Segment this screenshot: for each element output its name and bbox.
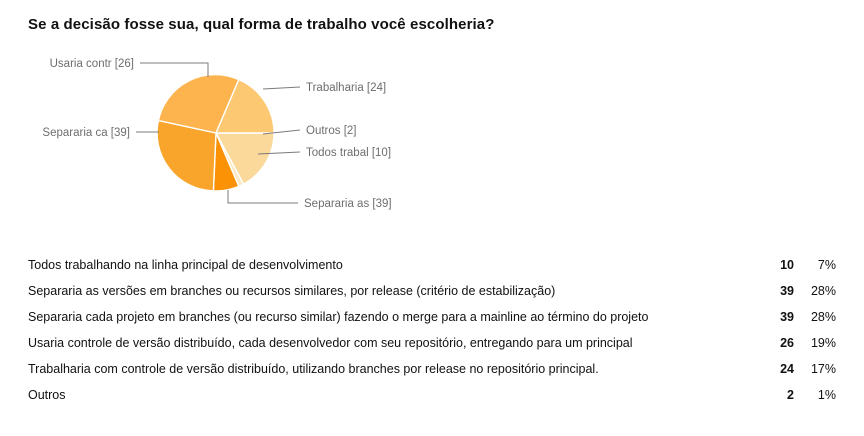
row-label: Usaria controle de versão distribuído, c… bbox=[28, 330, 756, 356]
table-row: Separaria as versões em branches ou recu… bbox=[28, 278, 836, 304]
row-count: 39 bbox=[756, 304, 794, 330]
row-label: Separaria as versões em branches ou recu… bbox=[28, 278, 756, 304]
row-count: 39 bbox=[756, 278, 794, 304]
pie-label-usaria-contr: Usaria contr [26] bbox=[50, 58, 134, 70]
leader-line-usaria-contr bbox=[140, 63, 208, 77]
pie-label-separaria-as: Separaria as [39] bbox=[304, 198, 392, 210]
pie-label-outros: Outros [2] bbox=[306, 125, 357, 137]
row-percent: 1% bbox=[794, 382, 836, 408]
table-row: Separaria cada projeto em branches (ou r… bbox=[28, 304, 836, 330]
pie-chart-container: Usaria contr [26] Separaria ca [39] Sepa… bbox=[0, 40, 864, 240]
pie-slices bbox=[157, 75, 274, 191]
row-percent: 28% bbox=[794, 278, 836, 304]
results-table: Todos trabalhando na linha principal de … bbox=[28, 252, 836, 408]
row-count: 10 bbox=[756, 252, 794, 278]
row-percent: 28% bbox=[794, 304, 836, 330]
leader-line-separaria-as bbox=[228, 190, 298, 203]
page-title: Se a decisão fosse sua, qual forma de tr… bbox=[28, 16, 494, 33]
row-label: Todos trabalhando na linha principal de … bbox=[28, 252, 756, 278]
results-table-body: Todos trabalhando na linha principal de … bbox=[28, 252, 836, 408]
pie-label-trabalharia: Trabalharia [24] bbox=[306, 82, 386, 94]
row-percent: 19% bbox=[794, 330, 836, 356]
row-count: 26 bbox=[756, 330, 794, 356]
pie-label-todos-trabal: Todos trabal [10] bbox=[306, 147, 391, 159]
row-count: 2 bbox=[756, 382, 794, 408]
row-label: Separaria cada projeto em branches (ou r… bbox=[28, 304, 756, 330]
leader-line-trabalharia bbox=[263, 87, 300, 89]
row-percent: 7% bbox=[794, 252, 836, 278]
row-label: Outros bbox=[28, 382, 756, 408]
table-row: Trabalharia com controle de versão distr… bbox=[28, 356, 836, 382]
table-row: Todos trabalhando na linha principal de … bbox=[28, 252, 836, 278]
pie-chart-svg: Usaria contr [26] Separaria ca [39] Sepa… bbox=[0, 40, 864, 240]
pie-label-separaria-ca: Separaria ca [39] bbox=[42, 127, 130, 139]
table-row: Outros 2 1% bbox=[28, 382, 836, 408]
row-percent: 17% bbox=[794, 356, 836, 382]
row-count: 24 bbox=[756, 356, 794, 382]
table-row: Usaria controle de versão distribuído, c… bbox=[28, 330, 836, 356]
row-label: Trabalharia com controle de versão distr… bbox=[28, 356, 756, 382]
